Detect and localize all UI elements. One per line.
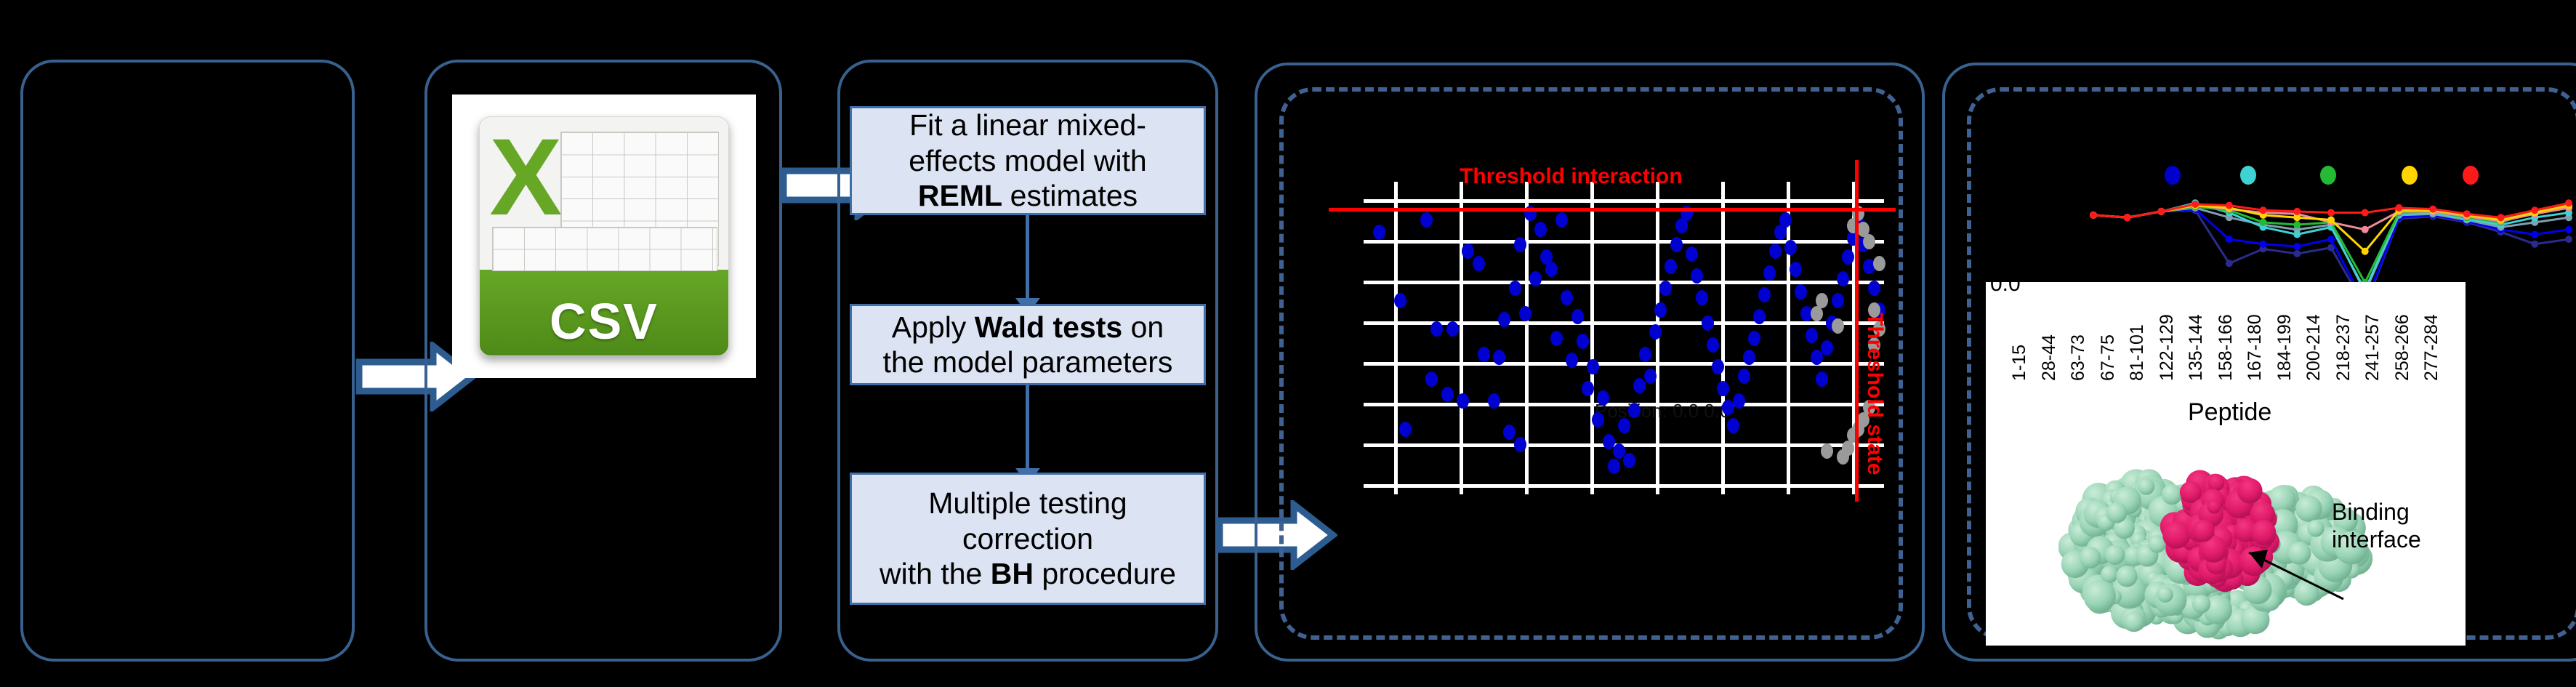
line-marker (2327, 236, 2335, 243)
scatter-points-layer (1364, 182, 1884, 494)
line-3m-bold: BH (991, 557, 1034, 590)
line-marker (2395, 204, 2402, 212)
scatter-point (1769, 244, 1782, 259)
binding-label-line1: Binding (2332, 499, 2410, 525)
scatter-point (1837, 449, 1849, 465)
line-2m: correction (962, 522, 1093, 555)
scatter-point (1753, 309, 1766, 324)
figure-canvas: X CSV Fit a linear mixed- effects model … (0, 0, 2576, 687)
surface-blob (2083, 580, 2116, 613)
scatter-point (1659, 281, 1672, 296)
peptide-tick-label: 184-199 (2274, 314, 2295, 381)
line-marker (2565, 236, 2572, 243)
scatter-point (1425, 371, 1438, 387)
line-1a: Apply (892, 310, 975, 344)
process-box-reml[interactable]: Fit a linear mixed- effects model with R… (850, 106, 1206, 215)
scatter-point (1597, 390, 1609, 406)
line-marker (2429, 206, 2436, 213)
line-marker (2226, 202, 2233, 209)
process-box-bh-text: Multiple testing correction with the BH … (872, 484, 1183, 592)
scatter-point (1623, 453, 1635, 468)
line-marker (2362, 226, 2369, 233)
scatter-point (1555, 212, 1568, 228)
surface-blob (2116, 566, 2137, 587)
scatter-point (1473, 256, 1485, 271)
scatter-point (1561, 290, 1573, 305)
scatter-point (1430, 321, 1443, 337)
process-box-wald[interactable]: Apply Wald tests on the model parameters (850, 304, 1206, 385)
scatter-point (1478, 347, 1490, 362)
scatter-point (1373, 225, 1385, 240)
peptide-tick-label: 1-15 (2009, 345, 2030, 381)
scatter-point (1702, 316, 1714, 331)
scatter-point (1763, 265, 1776, 281)
spreadsheet-grid-lower (492, 227, 717, 271)
line-3m-a: with the (880, 557, 991, 590)
scatter-point (1821, 340, 1833, 355)
line-marker (2497, 214, 2505, 221)
peptide-tick-label: 241-257 (2362, 314, 2383, 381)
line-marker (2531, 230, 2538, 238)
csv-icon-body: X CSV (479, 116, 730, 356)
line-marker (2565, 226, 2572, 233)
scatter-point (1811, 306, 1823, 321)
threshold-state-line (1855, 160, 1859, 502)
scatter-point (1748, 331, 1760, 346)
line-1b-bold: Wald tests (975, 310, 1123, 344)
legend-dot-cyan (2240, 166, 2256, 185)
peptide-tick-label: 63-73 (2068, 334, 2089, 381)
scatter-point (1618, 418, 1630, 433)
line-marker (2260, 206, 2267, 214)
surface-blob (2207, 474, 2224, 491)
scatter-point (1566, 353, 1578, 368)
scatter-point (1592, 412, 1604, 427)
scatter-point (1514, 437, 1526, 452)
line-1m: Multiple testing (928, 486, 1127, 520)
line-marker (2260, 241, 2267, 248)
legend-dot-yellow (2402, 166, 2418, 185)
peptide-tick-label: 167-180 (2245, 314, 2266, 381)
scatter-point (1743, 350, 1755, 365)
line-marker (2531, 241, 2538, 248)
surface-blob (2295, 496, 2322, 522)
line-1: Fit a linear mixed- (909, 108, 1146, 142)
scatter-point (1498, 312, 1510, 327)
excel-x-glyph: X (489, 122, 562, 231)
panel-data-source (20, 60, 355, 662)
line-marker (2226, 236, 2233, 243)
connector-1 (1026, 215, 1029, 300)
line-2a: the model parameters (883, 345, 1173, 379)
scatter-point (1540, 249, 1553, 265)
csv-file-icon: X CSV (452, 95, 756, 378)
scatter-point (1534, 222, 1547, 237)
line-marker (2293, 230, 2301, 238)
scatter-point (1670, 237, 1683, 252)
line-3m-c: procedure (1034, 557, 1176, 590)
scatter-point (1691, 268, 1703, 284)
scatter-point (1577, 334, 1589, 349)
line-marker (2327, 217, 2335, 224)
scatter-point (1509, 281, 1521, 296)
scatter-point (1441, 387, 1454, 402)
surface-blob (2192, 520, 2214, 542)
legend-dot-green (2320, 166, 2336, 185)
scatter-point (1654, 302, 1667, 318)
scatter-point (1863, 234, 1875, 249)
peptide-tick-label: 200-214 (2303, 314, 2325, 381)
surface-blob (2162, 521, 2190, 549)
line-marker (2293, 221, 2301, 228)
line-marker (2191, 201, 2199, 208)
line-marker (2565, 199, 2572, 206)
scatter-point (1420, 212, 1433, 228)
scatter-point (1790, 262, 1802, 277)
threshold-state-label: Threshold state (1862, 313, 1887, 475)
line-marker (2362, 209, 2369, 217)
line-marker (2260, 219, 2267, 226)
scatter-point (1493, 350, 1505, 365)
line-marker (2463, 210, 2471, 217)
scatter-point (1821, 443, 1833, 459)
binding-interface-label: Binding interface (2332, 499, 2421, 554)
peptide-tick-label: 158-166 (2215, 314, 2237, 381)
line-marker (2124, 214, 2131, 221)
scatter-point (1488, 393, 1500, 409)
scatter-point (1873, 256, 1885, 271)
scatter-point (1837, 271, 1849, 286)
peptide-tick-label: 122-129 (2157, 314, 2178, 381)
scatter-point (1628, 403, 1641, 418)
line-marker (2293, 250, 2301, 257)
scatter-point (1587, 359, 1599, 374)
scatter-point (1758, 287, 1771, 302)
line-marker (2293, 208, 2301, 215)
peptide-tick-label: 28-44 (2039, 334, 2060, 381)
peptide-tick-label: 67-75 (2098, 334, 2119, 381)
scatter-point (1550, 331, 1563, 346)
scatter-point (1644, 369, 1657, 384)
scatter-point (1816, 371, 1828, 387)
scatter-point (1462, 244, 1474, 259)
legend-dot-red (2463, 166, 2479, 185)
scatter-point (1868, 281, 1880, 296)
scatter-point (1717, 381, 1729, 396)
scatter-point (1519, 306, 1531, 321)
threshold-interaction-label: Threshold interaction (1460, 164, 1683, 189)
peptide-structure-card: 0.0 1-1528-4463-7367-7581-101122-129135-… (1986, 282, 2466, 646)
surface-blob (2237, 478, 2263, 504)
line-3-bold: REML (918, 179, 1010, 212)
surface-blob (2162, 484, 2182, 505)
surface-blob (2207, 500, 2221, 514)
scatter-point (1457, 393, 1469, 409)
scatter-point (1639, 347, 1651, 362)
scatter-point (1842, 249, 1854, 265)
x-axis-title: Peptide (2188, 398, 2271, 427)
line-marker (2531, 206, 2538, 214)
scatter-point (1707, 337, 1719, 353)
line-2: effects model with (909, 144, 1146, 177)
line-marker (2226, 260, 2233, 267)
line-marker (2293, 243, 2301, 250)
process-box-bh[interactable]: Multiple testing correction with the BH … (850, 473, 1206, 605)
scatter-point (1529, 271, 1542, 286)
scatter-point (1795, 284, 1807, 300)
scatter-point (1665, 259, 1677, 274)
scatter-point (1784, 240, 1797, 255)
process-box-reml-text: Fit a linear mixed- effects model with R… (901, 106, 1154, 214)
threshold-interaction-line (1329, 208, 1896, 212)
scatter-point (1733, 393, 1745, 409)
line-marker (2157, 208, 2165, 215)
peptide-tick-label: 277-284 (2421, 314, 2442, 381)
scatter-point (1806, 328, 1818, 343)
scatter-point (1394, 293, 1406, 308)
peptide-tick-label: 135-144 (2186, 314, 2207, 381)
line-3-rest: estimates (1010, 179, 1138, 212)
scatter-point (1832, 318, 1844, 334)
peptide-tick-label: 218-237 (2333, 314, 2354, 381)
connector-2 (1026, 385, 1029, 470)
csv-icon-label: CSV (480, 292, 729, 350)
legend-dot-blue (2165, 166, 2181, 185)
scatter-point (1649, 324, 1662, 340)
surface-blob (2288, 542, 2311, 565)
surface-blob (2192, 595, 2210, 613)
scatter-point (1571, 309, 1584, 324)
peptide-tick-label: 81-101 (2127, 324, 2148, 381)
scatter-plot: Position: 0.0 0.0 (1364, 182, 1884, 494)
surface-blob (2080, 547, 2101, 569)
process-box-wald-text: Apply Wald tests on the model parameters (876, 308, 1180, 382)
scatter-point (1582, 381, 1594, 396)
line-marker (2090, 212, 2097, 219)
scatter-point (1608, 459, 1620, 474)
scatter-point (1696, 290, 1708, 305)
scatter-point (1503, 425, 1516, 440)
line-marker (2327, 209, 2335, 217)
scatter-point (1633, 378, 1646, 393)
peptide-tick-label: 258-266 (2392, 314, 2413, 381)
scatter-point (1399, 422, 1412, 437)
surface-blob (2251, 520, 2277, 545)
scatter-point (1686, 246, 1698, 262)
surface-blob (2105, 545, 2125, 565)
scatter-point (1779, 212, 1792, 228)
line-1c: on (1122, 310, 1164, 344)
line-marker (2362, 248, 2369, 255)
scatter-point (1832, 293, 1844, 308)
surface-blob (2124, 611, 2144, 632)
scatter-point (1738, 369, 1750, 384)
scatter-point (1446, 321, 1459, 337)
scatter-point (1514, 237, 1526, 252)
surface-blob (2138, 478, 2154, 495)
surface-blob (2106, 502, 2128, 523)
surface-blob (2307, 520, 2325, 537)
surface-blob (2157, 587, 2173, 603)
scatter-point (1727, 418, 1739, 433)
binding-label-line2: interface (2332, 526, 2421, 553)
scatter-point (1712, 359, 1724, 374)
